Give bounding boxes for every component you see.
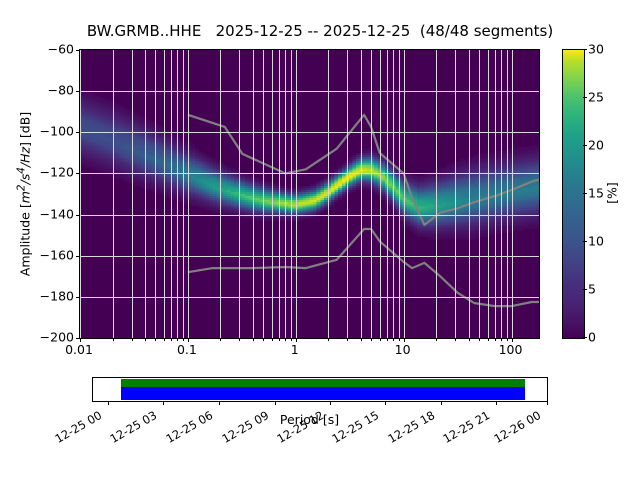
x-tick-label: 1 (291, 342, 299, 357)
x-tick-label: 100 (499, 342, 523, 357)
gridline-vertical (393, 50, 394, 338)
gridline-vertical (455, 50, 456, 338)
x-tickmark (469, 338, 470, 341)
x-tickmark (279, 338, 280, 341)
x-tickmark (113, 338, 114, 341)
gridline-horizontal (80, 256, 539, 257)
y-tickmark (76, 50, 80, 51)
y-tickmark (76, 215, 80, 216)
gridline-vertical (507, 50, 508, 338)
gridline-vertical (436, 50, 437, 338)
x-tickmark (263, 338, 264, 341)
x-tickmark (132, 338, 133, 341)
gridline-vertical (177, 50, 178, 338)
y-tick-label: −140 (40, 206, 74, 221)
x-tickmark (239, 338, 240, 341)
page-title: BW.GRMB..HHE 2025-12-25 -- 2025-12-25 (4… (0, 22, 640, 40)
timeline-tick-label: 12-25 18 (385, 408, 437, 446)
gridline-vertical (253, 50, 254, 338)
gridline-vertical (263, 50, 264, 338)
x-tickmark (171, 338, 172, 341)
x-tickmark (488, 338, 489, 341)
colorbar-tickmark (583, 97, 587, 98)
gridline-vertical (361, 50, 362, 338)
ppsd-density-svg (80, 50, 539, 338)
x-tickmark (371, 338, 372, 341)
y-tickmark (76, 256, 80, 257)
x-tick-label: 10 (395, 342, 411, 357)
colorbar-tick-label: 5 (588, 282, 596, 297)
gridline-horizontal (80, 173, 539, 174)
x-tickmark (455, 338, 456, 341)
y-tickmark (76, 338, 80, 339)
timeline-tickmark (330, 401, 331, 405)
timeline-tickmark (163, 401, 164, 405)
colorbar-tick-label: 20 (588, 138, 604, 153)
colorbar-tickmark (583, 337, 587, 338)
gridline-vertical (80, 50, 81, 338)
gridline-vertical (279, 50, 280, 338)
y-tick-label: −60 (48, 42, 74, 57)
gridline-vertical (285, 50, 286, 338)
gridline-vertical (387, 50, 388, 338)
timeline-tickmark (275, 401, 276, 405)
gridline-vertical (132, 50, 133, 338)
y-axis-label: Amplitude [m2/s4/Hz] [dB] (15, 112, 32, 276)
x-tickmark (501, 338, 502, 341)
x-tick-label: 0.1 (177, 342, 197, 357)
gridline-vertical (512, 50, 513, 338)
gridline-vertical (145, 50, 146, 338)
gridline-vertical (399, 50, 400, 338)
colorbar-tick-label: 0 (588, 330, 596, 345)
gridline-vertical (371, 50, 372, 338)
gridline-vertical (296, 50, 297, 338)
y-tickmark (76, 91, 80, 92)
x-tickmark (291, 338, 292, 341)
timeline-tick-label: 12-25 06 (163, 408, 215, 446)
gridline-vertical (220, 50, 221, 338)
colorbar-tickmark (583, 241, 587, 242)
colorbar-tickmark (583, 289, 587, 290)
x-tickmark (328, 338, 329, 341)
gridline-horizontal (80, 297, 539, 298)
gridline-vertical (328, 50, 329, 338)
noise-model-nlnm (188, 229, 539, 306)
x-tickmark (347, 338, 348, 341)
x-tickmark (183, 338, 184, 341)
gridline-vertical (239, 50, 240, 338)
gridline-vertical (164, 50, 165, 338)
y-tick-label: −120 (40, 165, 74, 180)
colorbar-tick-label: 15 (588, 186, 604, 201)
x-tickmark (253, 338, 254, 341)
gridline-vertical (488, 50, 489, 338)
timeline-tickmark (441, 401, 442, 405)
x-tickmark (155, 338, 156, 341)
timeline-tickmark (219, 401, 220, 405)
psd-coverage-band (121, 387, 525, 400)
gridline-vertical (183, 50, 184, 338)
timeline-tick-label: 12-25 09 (219, 408, 271, 446)
y-tick-label: −180 (40, 288, 74, 303)
x-tickmark (220, 338, 221, 341)
colorbar-tickmark (583, 193, 587, 194)
y-tickmark (76, 132, 80, 133)
timeline-tickmark (385, 401, 386, 405)
gridline-vertical (501, 50, 502, 338)
x-tickmark (495, 338, 496, 341)
timeline-tick-label: 12-25 21 (441, 408, 493, 446)
x-tickmark (380, 338, 381, 341)
y-tickmark (76, 297, 80, 298)
x-tick-label: 0.01 (65, 342, 93, 357)
gridline-horizontal (80, 91, 539, 92)
colorbar-label: [%] (605, 182, 620, 204)
gridline-vertical (404, 50, 405, 338)
gridline-vertical (291, 50, 292, 338)
gridline-vertical (272, 50, 273, 338)
colorbar-tickmark (583, 145, 587, 146)
x-tickmark (436, 338, 437, 341)
timeline-tick-label: 12-26 00 (491, 408, 543, 446)
gridline-vertical (113, 50, 114, 338)
gridline-vertical (469, 50, 470, 338)
x-tickmark (177, 338, 178, 341)
gridline-horizontal (80, 215, 539, 216)
gridline-vertical (479, 50, 480, 338)
timeline-tickmark (496, 401, 497, 405)
gridline-vertical (188, 50, 189, 338)
x-tickmark (399, 338, 400, 341)
x-tickmark (393, 338, 394, 341)
y-tickmark (76, 173, 80, 174)
gridline-vertical (171, 50, 172, 338)
timeline-tickmark (108, 401, 109, 405)
colorbar-tickmark (583, 49, 587, 50)
x-tickmark (285, 338, 286, 341)
colorbar-tick-label: 25 (588, 90, 604, 105)
gridline-vertical (495, 50, 496, 338)
timeline-tickmark (547, 401, 548, 405)
x-tickmark (145, 338, 146, 341)
ppsd-figure: BW.GRMB..HHE 2025-12-25 -- 2025-12-25 (4… (0, 0, 640, 480)
x-tickmark (507, 338, 508, 341)
gridline-vertical (347, 50, 348, 338)
y-tick-label: −160 (40, 247, 74, 262)
timeline-axes[interactable] (92, 377, 548, 402)
timeline-tick-label: 12-25 03 (108, 408, 160, 446)
y-tick-label: −80 (48, 83, 74, 98)
x-tickmark (479, 338, 480, 341)
x-tickmark (164, 338, 165, 341)
x-tickmark (361, 338, 362, 341)
colorbar-tick-label: 10 (588, 234, 604, 249)
colorbar[interactable] (562, 49, 585, 339)
x-tickmark (272, 338, 273, 341)
timeline-tick-label: 12-25 00 (52, 408, 104, 446)
colorbar-tick-label: 30 (588, 42, 604, 57)
ppsd-plot-area (80, 50, 539, 338)
x-tickmark (387, 338, 388, 341)
ppsd-axes[interactable]: Amplitude [m2/s4/Hz] [dB] Period [s] (79, 49, 540, 339)
gridline-vertical (155, 50, 156, 338)
y-tick-label: −100 (40, 124, 74, 139)
gridline-vertical (380, 50, 381, 338)
data-coverage-band (121, 379, 525, 387)
gridline-horizontal (80, 132, 539, 133)
